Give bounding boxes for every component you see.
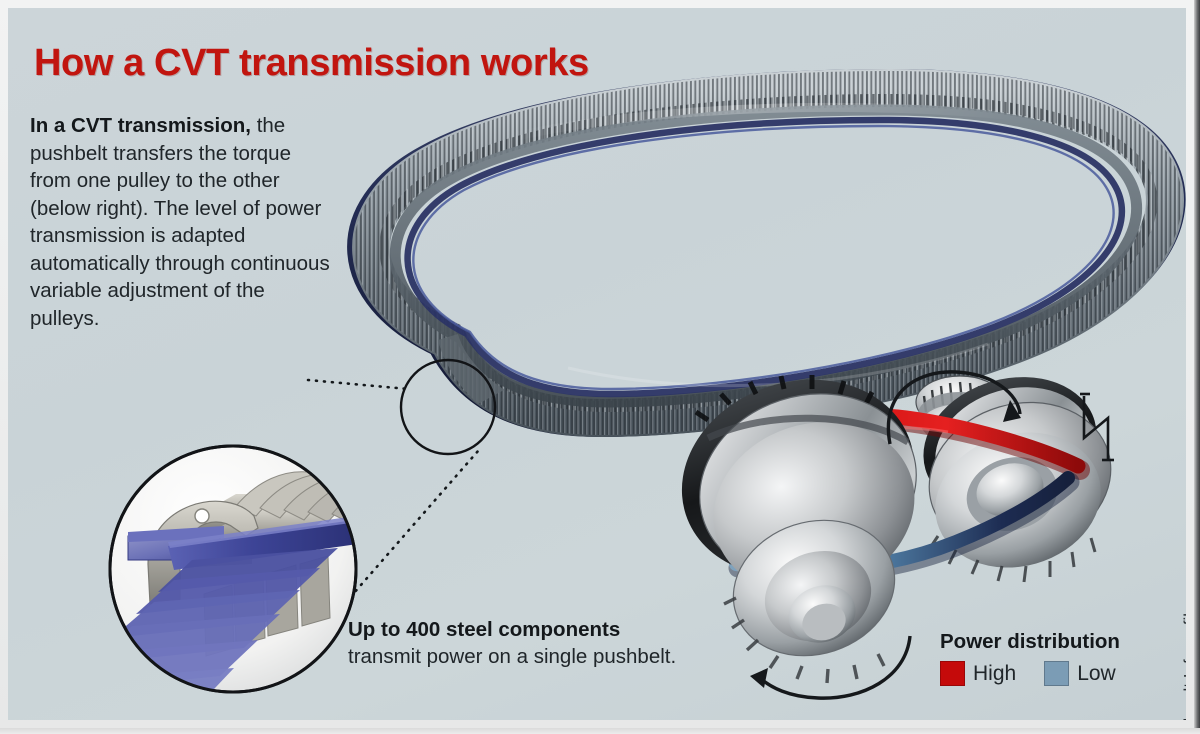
legend-label-low: Low	[1077, 662, 1116, 686]
intro-body: the pushbelt transfers the torque from o…	[30, 114, 330, 330]
legend-swatch-low	[1044, 661, 1069, 686]
legend-swatch-high	[940, 661, 965, 686]
legend-items: High Low	[940, 661, 1120, 686]
intro-paragraph: In a CVT transmission, the pushbelt tran…	[30, 112, 330, 333]
caption-body: transmit power on a single pushbelt.	[348, 645, 676, 668]
infographic-panel: How a CVT transmission works In a CVT tr…	[8, 8, 1186, 720]
caption-paragraph: Up to 400 steel components transmit powe…	[348, 616, 698, 671]
bottom-page-edge	[0, 728, 1200, 734]
intro-lead: In a CVT transmission,	[30, 114, 251, 137]
caption-lead: Up to 400 steel components	[348, 618, 620, 641]
legend-label-high: High	[973, 662, 1016, 686]
pushbelt-detail-circle	[8, 446, 420, 720]
credit-text: Infographics: KircherBurkhardt Infografi…	[1180, 608, 1186, 720]
infographic: How a CVT transmission works In a CVT tr…	[0, 0, 1200, 734]
legend-title: Power distribution	[940, 630, 1120, 654]
pushbelt-loop	[360, 82, 1173, 424]
page-title: How a CVT transmission works	[34, 44, 589, 82]
right-page-edge	[1194, 0, 1200, 734]
legend: Power distribution High Low	[940, 630, 1120, 686]
